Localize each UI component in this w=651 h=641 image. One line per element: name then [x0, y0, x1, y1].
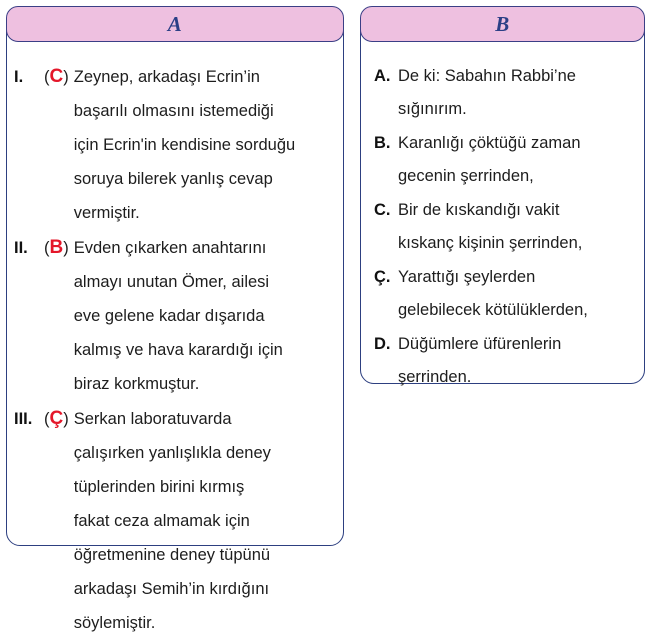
answer-slot[interactable]: (Ç): [44, 402, 74, 436]
item-marker: I.: [14, 60, 44, 94]
column-b-item-list: A. De ki: Sabahın Rabbi’nesığınırım. B. …: [360, 42, 645, 394]
item-text-line: Evden çıkarken anahtarını: [74, 231, 336, 265]
answer-letter: C: [50, 66, 64, 87]
item-marker: II.: [14, 231, 44, 265]
item-marker: Ç.: [374, 261, 398, 294]
item-marker: A.: [374, 60, 398, 93]
item-text-line: eve gelene kadar dışarıda: [74, 299, 336, 333]
answer-slot[interactable]: (C): [44, 60, 74, 94]
paren-close: ): [63, 410, 69, 428]
item-marker: B.: [374, 127, 398, 160]
item-text: Karanlığı çöktüğü zamangecenin şerrinden…: [398, 127, 637, 193]
item-text-line: söylemiştir.: [74, 606, 336, 640]
column-b-header-label: B: [495, 14, 510, 35]
column-b: B A. De ki: Sabahın Rabbi’nesığınırım. B…: [360, 6, 645, 395]
list-item[interactable]: A. De ki: Sabahın Rabbi’nesığınırım.: [374, 60, 637, 126]
item-text-line: Zeynep, arkadaşı Ecrin’in: [74, 60, 336, 94]
list-item: I. (C) Zeynep, arkadaşı Ecrin’inbaşarılı…: [14, 60, 336, 230]
item-text-line: fakat ceza almamak için: [74, 504, 336, 538]
item-text: Yarattığı şeylerdengelebilecek kötülükle…: [398, 261, 637, 327]
item-text: Bir de kıskandığı vakitkıskanç kişinin ş…: [398, 194, 637, 260]
paren-close: ): [63, 68, 69, 86]
list-item: III. (Ç) Serkan laboratuvardaçalışırken …: [14, 402, 336, 640]
item-text-line: sığınırım.: [398, 93, 637, 126]
answer-letter: Ç: [50, 408, 64, 429]
column-a: A I. (C) Zeynep, arkadaşı Ecrin’inbaşarı…: [6, 6, 344, 641]
column-a-item-list: I. (C) Zeynep, arkadaşı Ecrin’inbaşarılı…: [6, 42, 344, 640]
item-text-line: gecenin şerrinden,: [398, 160, 637, 193]
item-text: Zeynep, arkadaşı Ecrin’inbaşarılı olması…: [74, 60, 336, 230]
item-text-line: Yarattığı şeylerden: [398, 261, 637, 294]
item-text-line: Karanlığı çöktüğü zaman: [398, 127, 637, 160]
item-text: Serkan laboratuvardaçalışırken yanlışlık…: [74, 402, 336, 640]
item-text-line: tüplerinden birini kırmış: [74, 470, 336, 504]
item-text-line: için Ecrin'in kendisine sorduğu: [74, 128, 336, 162]
item-text-line: arkadaşı Semih’in kırdığını: [74, 572, 336, 606]
column-a-header-label: A: [168, 14, 183, 35]
answer-letter: B: [50, 237, 64, 258]
item-marker: III.: [14, 402, 44, 436]
item-text-line: De ki: Sabahın Rabbi’ne: [398, 60, 637, 93]
list-item[interactable]: D. Düğümlere üfürenlerinşerrinden.: [374, 328, 637, 394]
item-text: De ki: Sabahın Rabbi’nesığınırım.: [398, 60, 637, 126]
paren-close: ): [63, 239, 69, 257]
column-b-header: B: [360, 6, 645, 42]
item-text-line: kalmış ve hava karardığı için: [74, 333, 336, 367]
item-text-line: vermiştir.: [74, 196, 336, 230]
item-text-line: öğretmenine deney tüpünü: [74, 538, 336, 572]
list-item[interactable]: C. Bir de kıskandığı vakitkıskanç kişini…: [374, 194, 637, 260]
list-item[interactable]: B. Karanlığı çöktüğü zamangecenin şerrin…: [374, 127, 637, 193]
answer-slot[interactable]: (B): [44, 231, 74, 265]
item-text-line: başarılı olmasını istemediği: [74, 94, 336, 128]
item-text-line: gelebilecek kötülüklerden,: [398, 294, 637, 327]
list-item[interactable]: Ç. Yarattığı şeylerdengelebilecek kötülü…: [374, 261, 637, 327]
item-text-line: şerrinden.: [398, 361, 637, 394]
matching-exercise-page: A I. (C) Zeynep, arkadaşı Ecrin’inbaşarı…: [0, 0, 651, 557]
item-text-line: biraz korkmuştur.: [74, 367, 336, 401]
item-text-line: soruya bilerek yanlış cevap: [74, 162, 336, 196]
item-marker: C.: [374, 194, 398, 227]
item-text-line: Serkan laboratuvarda: [74, 402, 336, 436]
item-text-line: Düğümlere üfürenlerin: [398, 328, 637, 361]
item-text: Düğümlere üfürenlerinşerrinden.: [398, 328, 637, 394]
item-text: Evden çıkarken anahtarınıalmayı unutan Ö…: [74, 231, 336, 401]
column-a-header: A: [6, 6, 344, 42]
item-text-line: kıskanç kişinin şerrinden,: [398, 227, 637, 260]
list-item: II. (B) Evden çıkarken anahtarınıalmayı …: [14, 231, 336, 401]
item-text-line: Bir de kıskandığı vakit: [398, 194, 637, 227]
item-text-line: almayı unutan Ömer, ailesi: [74, 265, 336, 299]
item-text-line: çalışırken yanlışlıkla deney: [74, 436, 336, 470]
item-marker: D.: [374, 328, 398, 361]
